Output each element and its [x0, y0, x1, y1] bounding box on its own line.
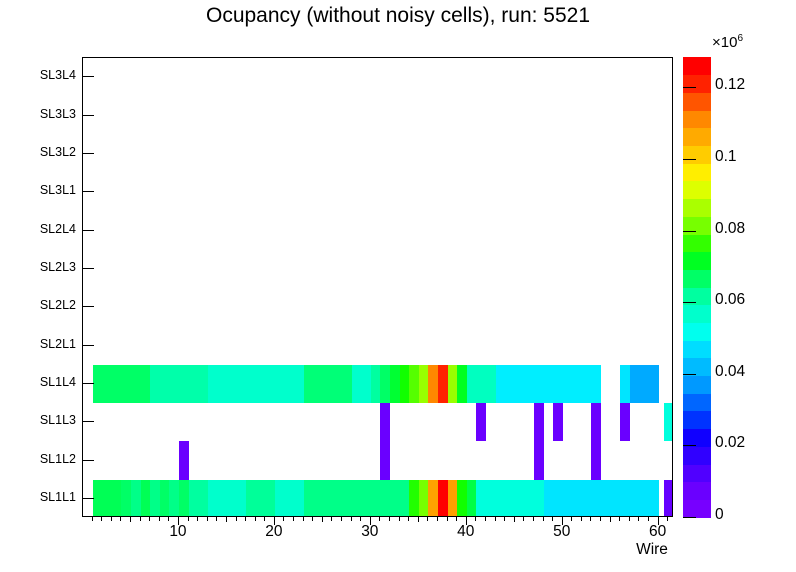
- heatmap-cell: [457, 365, 467, 403]
- heatmap-cell: [93, 365, 151, 403]
- color-bar-band: [683, 375, 711, 393]
- y-axis-label-sl2l3: SL2L3: [2, 261, 76, 273]
- x-axis-minor-tick: [399, 517, 400, 521]
- color-bar-tick: [683, 231, 696, 232]
- x-axis-minor-tick: [188, 517, 189, 521]
- color-bar-tick: [683, 445, 696, 446]
- x-axis-label-60: 60: [638, 523, 678, 541]
- y-axis-labels: SL1L1SL1L2SL1L3SL1L4SL2L1SL2L2SL2L3SL2L4…: [0, 0, 76, 572]
- root-canvas: Ocupancy (without noisy cells), run: 552…: [0, 0, 796, 572]
- x-axis-minor-tick: [629, 517, 630, 521]
- y-axis-label-sl2l4: SL2L4: [2, 223, 76, 235]
- x-axis-minor-tick: [226, 517, 227, 522]
- y-axis-label-sl3l1: SL3L1: [2, 184, 76, 196]
- color-bar-label-6: 0.12: [715, 78, 745, 92]
- heatmap-cell: [419, 365, 429, 403]
- x-axis-label-30: 30: [350, 523, 390, 541]
- heatmap-cell: [275, 480, 304, 516]
- x-axis-minor-tick: [533, 517, 534, 521]
- color-bar-tick: [683, 517, 696, 518]
- color-bar-tick: [683, 87, 696, 88]
- heatmap-cell: [476, 403, 486, 441]
- x-axis-minor-tick: [389, 517, 390, 521]
- color-bar-band: [683, 110, 711, 128]
- x-axis-minor-tick: [159, 517, 160, 521]
- heatmap-cell: [544, 480, 659, 516]
- color-bar-band: [683, 499, 711, 517]
- x-axis-minor-tick: [514, 517, 515, 522]
- color-bar-tick: [683, 159, 696, 160]
- x-axis-minor-tick: [255, 517, 256, 521]
- heatmap-cell: [179, 441, 189, 479]
- heatmap-cell: [160, 480, 170, 516]
- color-bar-band: [683, 305, 711, 323]
- heatmap-cell: [467, 365, 496, 403]
- x-axis-minor-tick: [437, 517, 438, 521]
- heatmap-cell: [428, 480, 438, 516]
- x-axis-minor-tick: [475, 517, 476, 521]
- heatmap-cell: [208, 480, 246, 516]
- heatmap-cell: [664, 480, 672, 516]
- heatmap-cell: [457, 480, 467, 516]
- x-axis-minor-tick: [571, 517, 572, 521]
- heatmap-cell: [534, 403, 544, 441]
- heatmap-cell: [553, 403, 563, 441]
- x-axis-minor-tick: [600, 517, 601, 521]
- color-bar: [683, 57, 711, 517]
- color-bar-band: [683, 92, 711, 110]
- color-bar-band: [683, 75, 711, 93]
- y-axis-tick: [82, 268, 94, 269]
- y-axis-tick: [82, 191, 94, 192]
- heatmap-cell: [438, 365, 448, 403]
- color-bar-band: [683, 57, 711, 75]
- color-bar-band: [683, 128, 711, 146]
- x-axis-minor-tick: [197, 517, 198, 521]
- color-bar-band: [683, 340, 711, 358]
- y-axis-label-sl1l2: SL1L2: [2, 453, 76, 465]
- color-bar-band: [683, 322, 711, 340]
- x-axis-minor-tick: [264, 517, 265, 521]
- x-axis-minor-tick: [543, 517, 544, 521]
- y-axis-tick: [82, 421, 94, 422]
- heatmap-cell: [380, 403, 390, 441]
- y-axis-tick: [82, 230, 94, 231]
- x-axis-minor-tick: [581, 517, 582, 521]
- y-axis-label-sl1l4: SL1L4: [2, 376, 76, 388]
- heatmap-cell: [419, 480, 429, 516]
- heatmap-cell: [150, 365, 208, 403]
- color-bar-exponent: ×106: [712, 33, 743, 51]
- color-bar-exponent-power: 6: [737, 33, 743, 44]
- heatmap-cell: [496, 365, 602, 403]
- x-axis-minor-tick: [245, 517, 246, 521]
- color-bar-label-4: 0.08: [715, 222, 745, 236]
- heatmap-cell: [304, 365, 352, 403]
- y-axis-label-sl3l3: SL3L3: [2, 108, 76, 120]
- color-bar-band: [683, 199, 711, 217]
- x-axis-label-50: 50: [542, 523, 582, 541]
- color-bar-band: [683, 464, 711, 482]
- y-axis-tick: [82, 76, 94, 77]
- x-axis-minor-tick: [418, 517, 419, 522]
- x-axis-minor-tick: [236, 517, 237, 521]
- heatmap-cell: [390, 365, 400, 403]
- heatmap-cell: [448, 365, 458, 403]
- color-bar-band: [683, 252, 711, 270]
- heatmap-cell: [150, 480, 160, 516]
- heatmap-cell: [428, 365, 438, 403]
- x-axis-minor-tick: [638, 517, 639, 521]
- x-axis-minor-tick: [360, 517, 361, 521]
- x-axis-minor-tick: [322, 517, 323, 522]
- heatmap-cell: [591, 403, 601, 441]
- x-axis-minor-tick: [648, 517, 649, 521]
- heatmap-cell: [189, 480, 208, 516]
- x-axis-minor-tick: [111, 517, 112, 521]
- x-axis-minor-tick: [408, 517, 409, 521]
- y-axis-tick: [82, 115, 94, 116]
- x-axis-minor-tick: [293, 517, 294, 521]
- color-bar-band: [683, 145, 711, 163]
- heatmap-cell: [208, 365, 266, 403]
- heatmap-cell: [438, 480, 448, 516]
- x-axis-minor-tick: [101, 517, 102, 521]
- x-axis-minor-tick: [523, 517, 524, 521]
- y-axis-tick: [82, 153, 94, 154]
- y-axis-tick: [82, 383, 94, 384]
- x-axis-minor-tick: [303, 517, 304, 521]
- heatmap-cell: [409, 480, 419, 516]
- x-axis-minor-tick: [379, 517, 380, 521]
- heatmap-cell: [179, 480, 189, 516]
- x-axis-minor-tick: [312, 517, 313, 521]
- heatmap-cell: [246, 480, 275, 516]
- color-bar-band: [683, 446, 711, 464]
- x-axis-minor-tick: [216, 517, 217, 521]
- y-axis-label-sl3l4: SL3L4: [2, 69, 76, 81]
- color-bar-band: [683, 393, 711, 411]
- heatmap-cell: [141, 480, 151, 516]
- color-bar-label-2: 0.04: [715, 365, 745, 379]
- heatmap-cell: [121, 480, 131, 516]
- x-axis-title: Wire: [612, 541, 692, 559]
- heatmap-cell: [409, 365, 419, 403]
- heatmap-cell: [620, 365, 630, 403]
- y-axis-label-sl2l2: SL2L2: [2, 299, 76, 311]
- x-axis-minor-tick: [504, 517, 505, 521]
- heatmap-cell: [630, 365, 659, 403]
- color-bar-tick: [683, 302, 696, 303]
- heatmap-cell: [169, 480, 179, 516]
- heatmap-cell: [380, 441, 390, 479]
- heatmap-cell: [534, 441, 544, 479]
- heatmap-cell: [591, 441, 601, 479]
- heatmap-cell: [265, 365, 303, 403]
- heatmap-cell: [131, 480, 141, 516]
- x-axis-minor-tick: [331, 517, 332, 521]
- x-axis-minor-tick: [92, 517, 93, 521]
- x-axis-label-20: 20: [254, 523, 294, 541]
- y-axis-label-sl1l1: SL1L1: [2, 491, 76, 503]
- x-axis-minor-tick: [149, 517, 150, 521]
- y-axis-tick: [82, 460, 94, 461]
- heatmap-cell: [400, 365, 410, 403]
- color-bar-label-5: 0.1: [715, 150, 737, 164]
- heatmap-cell: [467, 480, 477, 516]
- heatmap-cell: [371, 365, 381, 403]
- color-bar-band: [683, 234, 711, 252]
- y-axis-tick: [82, 498, 94, 499]
- x-axis-minor-tick: [485, 517, 486, 521]
- x-axis-minor-tick: [341, 517, 342, 521]
- y-axis-label-sl2l1: SL2L1: [2, 338, 76, 350]
- x-axis-minor-tick: [552, 517, 553, 521]
- color-bar-band: [683, 411, 711, 429]
- x-axis-minor-tick: [610, 517, 611, 522]
- y-axis-tick: [82, 306, 94, 307]
- x-axis-minor-tick: [667, 517, 668, 521]
- page-title: Ocupancy (without noisy cells), run: 552…: [0, 4, 796, 28]
- x-axis-minor-tick: [140, 517, 141, 521]
- chart-title-text: Ocupancy (without noisy cells), run: 552…: [206, 4, 590, 28]
- x-axis-minor-tick: [130, 517, 131, 522]
- color-bar-exponent-base: ×10: [712, 34, 737, 51]
- heatmap-cell: [620, 403, 630, 441]
- plot-frame: [82, 57, 673, 517]
- x-axis-label-40: 40: [446, 523, 486, 541]
- heatmap-cell: [304, 480, 410, 516]
- x-axis-label-10: 10: [158, 523, 198, 541]
- x-axis-minor-tick: [207, 517, 208, 521]
- x-axis-minor-tick: [120, 517, 121, 521]
- color-bar-tick: [683, 374, 696, 375]
- heatmap-cell: [476, 480, 543, 516]
- heatmap-cell: [352, 365, 371, 403]
- y-axis-label-sl1l3: SL1L3: [2, 414, 76, 426]
- x-axis-minor-tick: [168, 517, 169, 521]
- y-axis-label-sl3l2: SL3L2: [2, 146, 76, 158]
- x-axis-minor-tick: [619, 517, 620, 521]
- color-bar-band: [683, 163, 711, 181]
- x-axis-minor-tick: [456, 517, 457, 521]
- x-axis-minor-tick: [590, 517, 591, 521]
- x-axis-minor-tick: [283, 517, 284, 521]
- heatmap-cells: [83, 58, 672, 516]
- color-bar-band: [683, 269, 711, 287]
- heatmap-cell: [93, 480, 122, 516]
- color-bar-label-3: 0.06: [715, 293, 745, 307]
- x-axis-minor-tick: [495, 517, 496, 521]
- x-axis-minor-tick: [351, 517, 352, 521]
- x-axis-minor-tick: [427, 517, 428, 521]
- y-axis-tick: [82, 345, 94, 346]
- color-bar-band: [683, 482, 711, 500]
- heatmap-cell: [380, 365, 390, 403]
- color-bar-band: [683, 181, 711, 199]
- heatmap-cell: [664, 403, 672, 441]
- x-axis-minor-tick: [447, 517, 448, 521]
- heatmap-cell: [448, 480, 458, 516]
- color-bar-label-1: 0.02: [715, 436, 745, 450]
- color-bar-label-0: 0: [715, 508, 724, 522]
